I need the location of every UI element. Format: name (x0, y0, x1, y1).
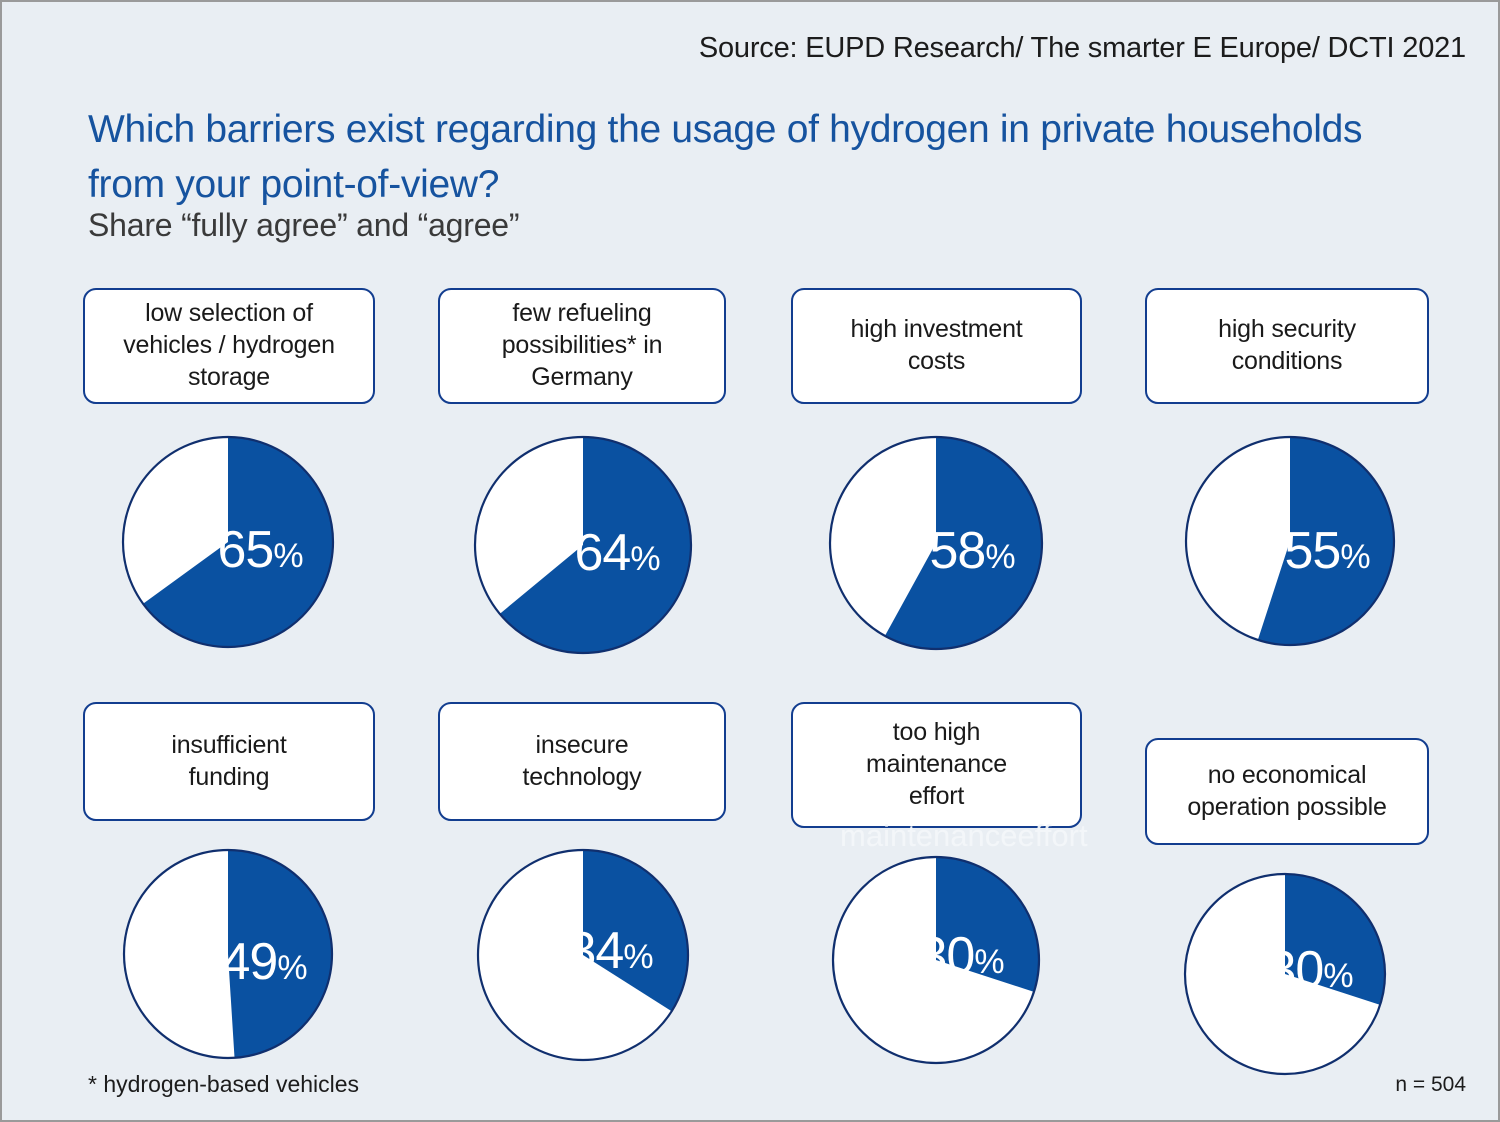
barrier-cell-8: no economicaloperation possible 30% (1145, 702, 1425, 1077)
pie-svg (1183, 434, 1397, 648)
barrier-cell-1: low selection ofvehicles / hydrogenstora… (83, 288, 373, 650)
barrier-label-4: high securityconditions (1145, 288, 1429, 404)
barrier-cell-5: insufficientfunding 49% (83, 702, 373, 1061)
pie-wrap-3: 58% (791, 434, 1081, 652)
pie-svg (120, 434, 336, 650)
sample-size-label: n = 504 (1395, 1073, 1466, 1097)
pie-svg (830, 854, 1042, 1066)
pie-wrap-4: 55% (1145, 434, 1435, 648)
barrier-cell-4: high securityconditions 55% (1145, 288, 1435, 648)
barrier-label-2: few refuelingpossibilities* inGermany (438, 288, 726, 404)
pie-wrap-1: 65% (83, 434, 373, 650)
pie-wrap-6: 34% (438, 847, 728, 1063)
pie-svg (827, 434, 1045, 652)
barrier-label-8: no economicaloperation possible (1145, 738, 1429, 845)
pie-wrap-2: 64% (438, 434, 728, 656)
pie-svg (472, 434, 694, 656)
barrier-cell-7: too highmaintenanceeffort 30% (791, 702, 1081, 1066)
barrier-label-3: high investmentcosts (791, 288, 1082, 404)
source-credit: Source: EUPD Research/ The smarter E Eur… (699, 32, 1466, 65)
pie-chart-3: 58% (827, 434, 1045, 652)
page-subtitle: Share “fully agree” and “agree” (88, 207, 519, 244)
page-title: Which barriers exist regarding the usage… (88, 102, 1428, 213)
pie-wrap-7: 30% (791, 854, 1081, 1066)
pie-svg (475, 847, 691, 1063)
barrier-label-1: low selection ofvehicles / hydrogenstora… (83, 288, 375, 404)
pie-chart-8: 30% (1182, 871, 1388, 1077)
barrier-label-7: too highmaintenanceeffort (791, 702, 1082, 828)
barrier-cell-6: insecuretechnology 34% (438, 702, 728, 1063)
pie-value-slice (228, 850, 332, 1058)
pie-svg (121, 847, 335, 1061)
footnote: * hydrogen-based vehicles (88, 1071, 359, 1098)
pie-svg (1182, 871, 1388, 1077)
pie-chart-6: 34% (475, 847, 691, 1063)
barrier-cell-2: few refuelingpossibilities* inGermany 64… (438, 288, 728, 656)
chart-canvas: Source: EUPD Research/ The smarter E Eur… (0, 0, 1500, 1122)
pie-wrap-8: 30% (1145, 871, 1425, 1077)
barrier-label-6: insecuretechnology (438, 702, 726, 821)
pie-chart-7: 30% (830, 854, 1042, 1066)
pie-wrap-5: 49% (83, 847, 373, 1061)
barrier-label-5: insufficientfunding (83, 702, 375, 821)
pie-chart-1: 65% (120, 434, 336, 650)
pie-chart-4: 55% (1183, 434, 1397, 648)
pie-chart-5: 49% (121, 847, 335, 1061)
barrier-cell-3: high investmentcosts 58% (791, 288, 1081, 652)
pie-chart-2: 64% (472, 434, 694, 656)
